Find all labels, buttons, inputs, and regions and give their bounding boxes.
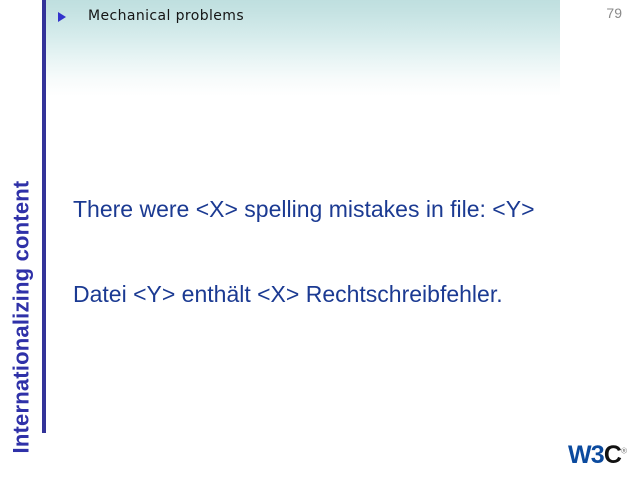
- triangle-right-icon: [58, 12, 66, 22]
- registered-trademark-icon: ®: [621, 447, 627, 456]
- header-bullet-row: Mechanical problems: [58, 8, 244, 24]
- sidebar-title-label: Internationalizing content: [8, 181, 34, 454]
- presentation-slide: Internationalizing content Mechanical pr…: [0, 0, 640, 480]
- header-title-label: Mechanical problems: [88, 8, 244, 24]
- body-line-english: There were <X> spelling mistakes in file…: [73, 196, 535, 223]
- w3c-logo: W3C®: [568, 443, 627, 468]
- sidebar-vertical-rule: [42, 0, 46, 433]
- slide-number: 79: [606, 5, 622, 21]
- w3c-logo-c: C: [604, 441, 621, 469]
- sidebar-title: Internationalizing content: [0, 0, 42, 330]
- w3c-logo-w3: W3: [568, 441, 604, 469]
- body-line-german: Datei <Y> enthält <X> Rechtschreibfehler…: [73, 281, 503, 308]
